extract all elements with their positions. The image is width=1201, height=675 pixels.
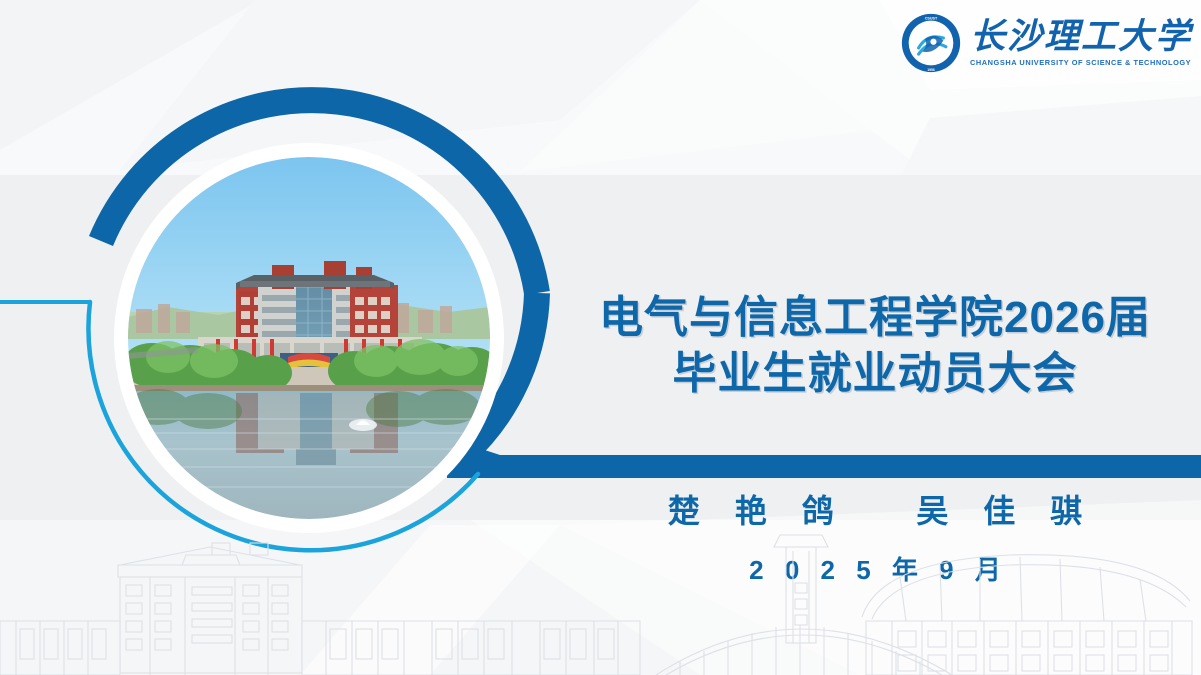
title-slide: CSUST 1956 长沙理工大学 CHANGSHA UNIVERSITY OF… [0,0,1201,675]
presenter-name-1: 楚 艳 鸽 [668,493,847,529]
logo-english-name: CHANGSHA UNIVERSITY OF SCIENCE & TECHNOL… [970,58,1192,67]
slide-date: 2 0 2 5 年 9 月 [560,550,1190,587]
presenter-names: 楚 艳 鸽 吴 佳 骐 [560,486,1190,532]
university-logo: CSUST 1956 长沙理工大学 CHANGSHA UNIVERSITY OF… [900,6,1190,80]
presenter-name-2: 吴 佳 骐 [916,493,1095,529]
logo-chinese-name: 长沙理工大学 [970,19,1192,56]
blue-bar-decoration [500,455,1201,478]
title-line-2: 毕业生就业动员大会 [560,346,1190,402]
slide-title: 电气与信息工程学院2026届 毕业生就业动员大会 [560,290,1190,402]
university-emblem-icon: CSUST 1956 [900,12,962,74]
svg-text:1956: 1956 [927,68,935,72]
campus-photo [128,157,490,519]
title-line-1: 电气与信息工程学院2026届 [560,290,1190,346]
svg-text:CSUST: CSUST [925,16,938,20]
